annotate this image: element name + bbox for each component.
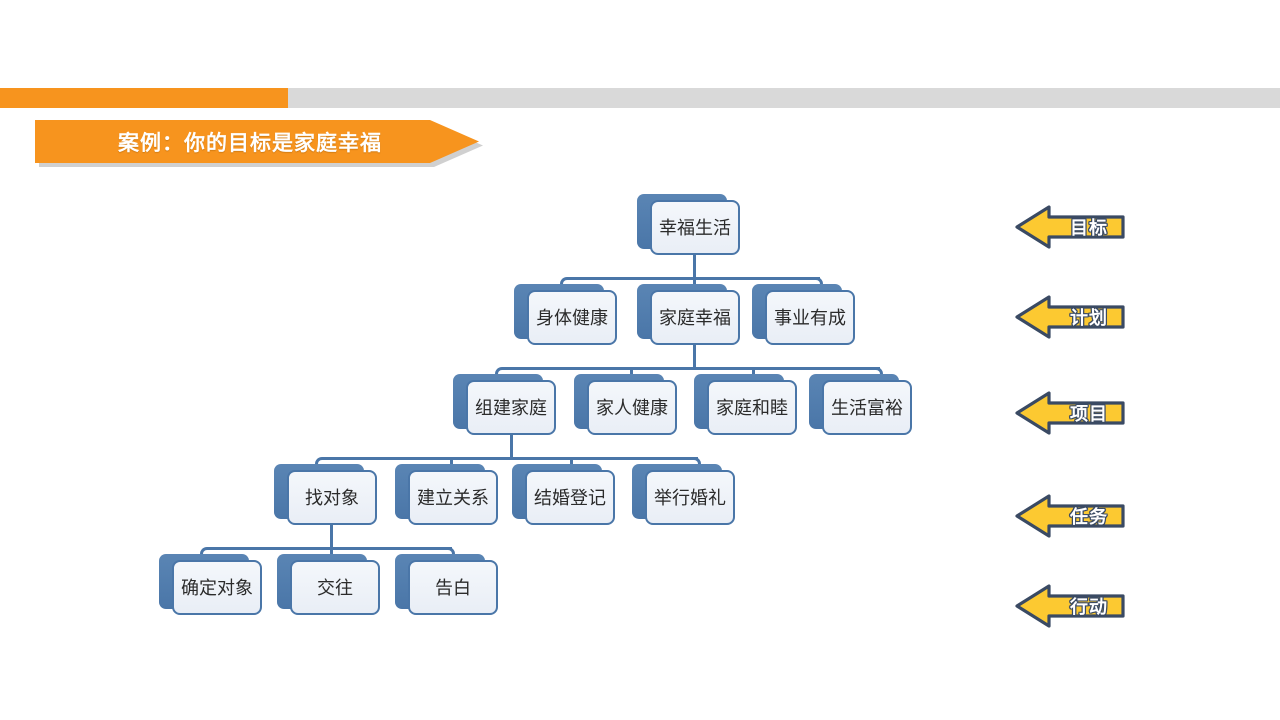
tree-node[interactable]: 家庭幸福: [650, 290, 740, 345]
connector-l2-stem: [693, 345, 696, 367]
legend-arrow-project[interactable]: 项目: [1015, 390, 1125, 436]
node-body: 家庭幸福: [650, 290, 740, 345]
tree-node[interactable]: 建立关系: [408, 470, 498, 525]
connector-l3-stem: [510, 435, 513, 457]
node-label: 家人健康: [596, 399, 668, 417]
tree-node[interactable]: 幸福生活: [650, 200, 740, 255]
node-label: 举行婚礼: [654, 489, 726, 507]
node-body: 告白: [408, 560, 498, 615]
node-body: 举行婚礼: [645, 470, 735, 525]
node-label: 组建家庭: [475, 399, 547, 417]
goal-breakdown-tree: 幸福生活 身体健康 家庭幸福 事业有成 组建家庭: [0, 0, 1000, 720]
tree-node[interactable]: 家人健康: [587, 380, 677, 435]
node-label: 生活富裕: [831, 399, 903, 417]
node-body: 找对象: [287, 470, 377, 525]
node-body: 建立关系: [408, 470, 498, 525]
tree-node[interactable]: 找对象: [287, 470, 377, 525]
tree-node[interactable]: 家庭和睦: [707, 380, 797, 435]
legend-arrow-task[interactable]: 任务: [1015, 493, 1125, 539]
node-label: 确定对象: [181, 579, 253, 597]
node-label: 结婚登记: [534, 489, 606, 507]
node-label: 交往: [317, 579, 353, 597]
connector-l4-spine: [325, 457, 698, 460]
legend-arrow-label: 计划: [1053, 294, 1125, 340]
slide-canvas: 案例：你的目标是家庭幸福: [0, 0, 1280, 720]
connector-l3-spine: [505, 367, 880, 370]
tree-node[interactable]: 组建家庭: [466, 380, 556, 435]
legend-arrow-action[interactable]: 行动: [1015, 583, 1125, 629]
node-body: 结婚登记: [525, 470, 615, 525]
node-body: 家庭和睦: [707, 380, 797, 435]
node-body: 生活富裕: [822, 380, 912, 435]
legend-arrow-label: 行动: [1053, 583, 1125, 629]
node-label: 事业有成: [774, 309, 846, 327]
tree-node[interactable]: 确定对象: [172, 560, 262, 615]
node-label: 幸福生活: [659, 219, 731, 237]
node-body: 确定对象: [172, 560, 262, 615]
node-body: 事业有成: [765, 290, 855, 345]
node-body: 幸福生活: [650, 200, 740, 255]
node-body: 组建家庭: [466, 380, 556, 435]
node-label: 身体健康: [536, 309, 608, 327]
node-body: 身体健康: [527, 290, 617, 345]
legend-arrow-label: 项目: [1053, 390, 1125, 436]
tree-node[interactable]: 告白: [408, 560, 498, 615]
legend-arrow-plan[interactable]: 计划: [1015, 294, 1125, 340]
node-body: 交往: [290, 560, 380, 615]
connector-l1-stem: [693, 255, 696, 278]
legend-arrow-goal[interactable]: 目标: [1015, 204, 1125, 250]
tree-node[interactable]: 身体健康: [527, 290, 617, 345]
connector-l4-stem: [330, 525, 333, 547]
tree-node[interactable]: 事业有成: [765, 290, 855, 345]
node-label: 建立关系: [417, 489, 489, 507]
tree-node[interactable]: 生活富裕: [822, 380, 912, 435]
legend-arrow-label: 任务: [1053, 493, 1125, 539]
node-label: 找对象: [305, 489, 359, 507]
node-label: 家庭幸福: [659, 309, 731, 327]
legend-arrow-label: 目标: [1053, 204, 1125, 250]
tree-node[interactable]: 举行婚礼: [645, 470, 735, 525]
node-body: 家人健康: [587, 380, 677, 435]
tree-node[interactable]: 结婚登记: [525, 470, 615, 525]
node-label: 家庭和睦: [716, 399, 788, 417]
node-label: 告白: [435, 579, 471, 597]
tree-node[interactable]: 交往: [290, 560, 380, 615]
